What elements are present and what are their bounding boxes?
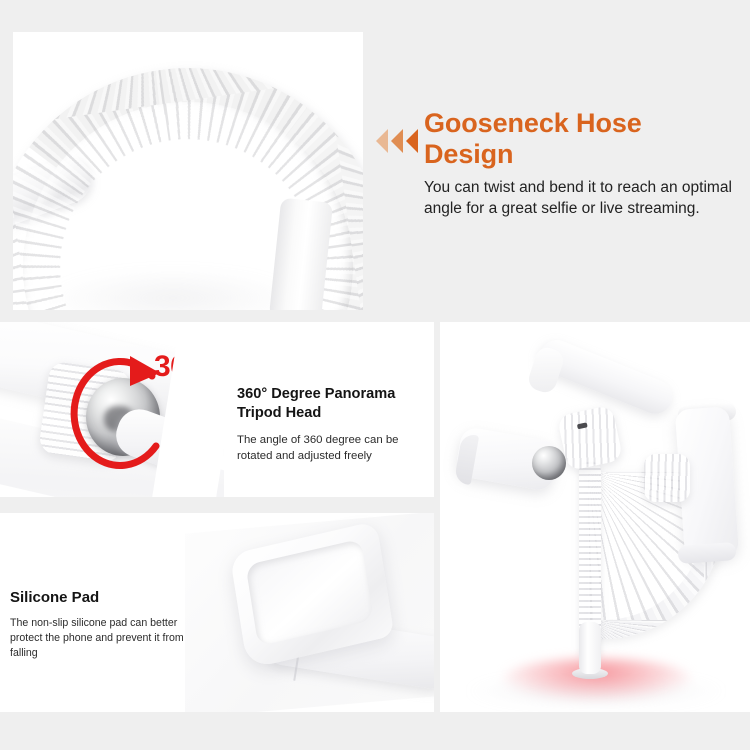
hero-title: Gooseneck Hose Design	[424, 108, 740, 169]
hero-description: You can twist and bend it to reach an op…	[424, 178, 740, 220]
right-knurled-joint	[644, 454, 690, 502]
right-clamp-bottom-lip	[677, 542, 736, 564]
tripod-head-photo: 360°	[0, 322, 224, 497]
feature-360-description: The angle of 360 degree can be rotated a…	[237, 432, 432, 465]
triple-chevron-left-icon	[374, 128, 420, 154]
feature-360-title-line1: 360° Degree Panorama	[237, 386, 395, 402]
infographic-page: Gooseneck Hose Design You can twist and …	[0, 0, 750, 750]
gooseneck-hose-image-panel	[13, 32, 363, 310]
product-image-panel	[440, 322, 750, 712]
gooseneck-column-base	[579, 622, 601, 674]
feature-360-title-line2: Tripod Head	[237, 405, 321, 421]
silicone-pad-photo	[185, 513, 434, 712]
feature-360-desc-line1: The angle of 360 degree can be	[237, 434, 399, 446]
silicone-pad-text-block: Silicone Pad The non-slip silicone pad c…	[10, 588, 214, 662]
feature-360-desc-line2: rotated and adjusted freely	[237, 450, 372, 462]
feature-silicone-desc-line3: falling	[10, 647, 38, 659]
hero-title-line1: Gooseneck Hose	[424, 108, 642, 138]
upper-knurled-joint	[557, 405, 623, 471]
upper-arm-hook	[526, 345, 566, 395]
gooseneck-hose-text-block: Gooseneck Hose Design You can twist and …	[424, 108, 740, 220]
feature-silicone-desc-line1: The non-slip silicone pad can better	[10, 617, 177, 629]
panorama-head-text-block: 360° Degree Panorama Tripod Head The ang…	[237, 385, 432, 465]
feature-silicone-title: Silicone Pad	[10, 588, 214, 608]
hero-title-line2: Design	[424, 139, 513, 169]
product-photo	[440, 322, 750, 712]
left-chrome-ball-joint	[532, 446, 566, 480]
feature-silicone-desc-line2: protect the phone and prevent it from	[10, 632, 184, 644]
gooseneck-hose-photo	[13, 32, 363, 310]
feature-360-title: 360° Degree Panorama Tripod Head	[237, 385, 432, 423]
feature-silicone-description: The non-slip silicone pad can better pro…	[10, 616, 214, 662]
